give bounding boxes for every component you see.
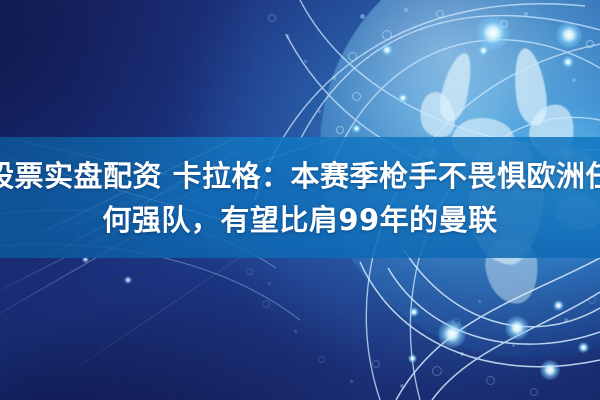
banner-image: 股票实盘配资 卡拉格：本赛季枪手不畏惧欧洲任 何强队，有望比肩99年的曼联 [0,0,600,400]
headline-line-2: 何强队，有望比肩99年的曼联 [102,200,497,240]
headline-line-1: 股票实盘配资 卡拉格：本赛季枪手不畏惧欧洲任 [0,156,600,196]
headline-text-block: 股票实盘配资 卡拉格：本赛季枪手不畏惧欧洲任 何强队，有望比肩99年的曼联 [0,137,600,258]
